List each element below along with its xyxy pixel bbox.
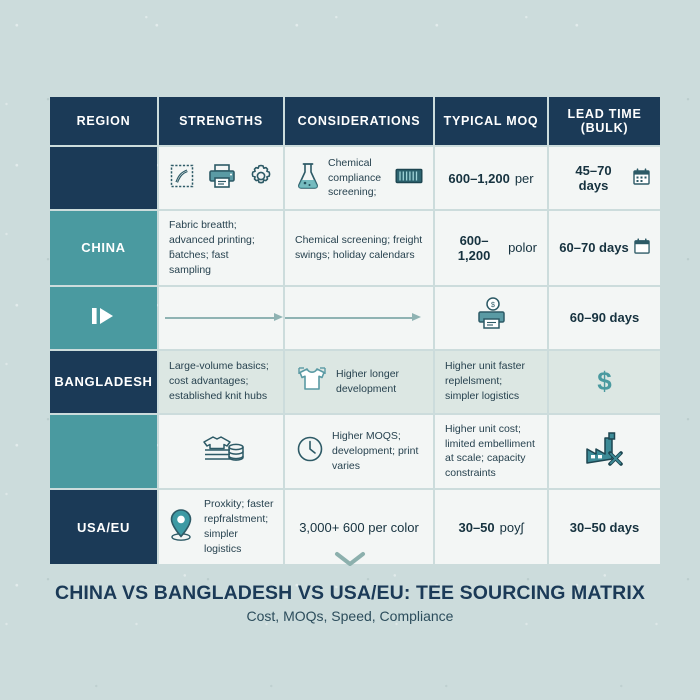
lead-time-cell: 60–70 days [549, 211, 660, 285]
considerations-cell: Higher longer development [285, 351, 433, 413]
column-header-region: REGION [50, 97, 157, 145]
moq-value: 600–1,200 [448, 171, 509, 186]
considerations-text: Higher MOQS; development; print varies [332, 429, 423, 474]
lead-time-cell [549, 415, 660, 489]
lead-time-cell: 45–70 days [549, 147, 660, 209]
moq-unit: poyʃ [500, 520, 524, 535]
region-pill-bangladesh: BANGLADESH [50, 351, 157, 413]
tshirt-icon [295, 363, 329, 400]
clock-icon [295, 434, 325, 469]
column-header-typical-moq: TYPICAL MOQ [435, 97, 547, 145]
printer-cost-icon: $ [471, 295, 511, 340]
lead-time-cell: 60–90 days [549, 287, 660, 349]
region-cell [50, 287, 157, 349]
moq-text: Higher unit faster replelsment; simpler … [435, 351, 547, 413]
infographic-canvas: REGION STRENGTHS CONSIDERATIONS TYPICAL … [0, 0, 700, 700]
considerations-cell: Chemical compliance screening; [285, 147, 433, 209]
region-cell: CHINA [50, 211, 157, 285]
region-cell: BANGLADESH [50, 351, 157, 413]
lead-time-cell: $ [549, 351, 660, 413]
strengths-text: Large-volume basics; cost advantages; es… [159, 351, 283, 413]
column-header-considerations: CONSIDERATIONS [285, 97, 433, 145]
gear-icon [248, 163, 274, 194]
strengths-text: Proxkity; faster repfralstment; simpler … [204, 497, 277, 557]
lead-time-line2: (BULK) [549, 121, 660, 135]
arrow-right-icon [165, 313, 283, 323]
svg-text:$: $ [491, 302, 495, 309]
considerations-text: Chemical compliance screening; [328, 156, 388, 201]
lead-time-value: 45–70 days [559, 163, 628, 193]
lead-time-value: 30–50 days [570, 520, 639, 535]
considerations-text: Higher longer development [336, 367, 423, 397]
strengths-cell [159, 415, 283, 489]
table-row: Higher MOQS; development; print varies H… [50, 415, 660, 489]
table-row: BANGLADESH Large-volume basics; cost adv… [50, 351, 660, 413]
moq-unit: per [515, 171, 534, 186]
moq-text: Higher unit cost; limited embelliment at… [435, 415, 547, 489]
region-cell [50, 147, 157, 209]
factory-icon [583, 429, 627, 474]
region-pill [50, 147, 157, 209]
flask-icon [295, 161, 321, 196]
table-row: Chemical compliance screening; 600–1,200… [50, 147, 660, 209]
region-pill-step [50, 287, 157, 349]
moq-value: 600–1,200 [445, 233, 503, 263]
region-pill [50, 415, 157, 489]
region-pill-china: CHINA [50, 211, 157, 285]
column-header-strengths: STRENGTHS [159, 97, 283, 145]
lead-time-value: 60–70 days [559, 240, 628, 255]
strengths-cell: Fabric breatth; advanced printing; ƃatch… [159, 211, 283, 285]
moq-cell: 600–1,200polor [435, 211, 547, 285]
chevron-down-icon [0, 550, 700, 573]
dollar-icon: $ [597, 366, 611, 397]
moq-unit: polor [508, 240, 537, 255]
page-subtitle: Cost, MOQs, Speed, Compliance [0, 608, 700, 624]
header-row: REGION STRENGTHS CONSIDERATIONS TYPICAL … [50, 97, 660, 145]
strengths-cell [159, 147, 283, 209]
table-row: CHINA Fabric breatth; advanced printing;… [50, 211, 660, 285]
folded-shirts-coins-icon [196, 430, 246, 473]
region-cell [50, 415, 157, 489]
page-title: CHINA VS BANGLADESH VS USA/EU: TEE SOURC… [0, 582, 700, 605]
moq-cell: Higher unit faster replelsment; simpler … [435, 351, 547, 413]
considerations-cell: Higher MOQS; development; print varies [285, 415, 433, 489]
lead-time-line1: LEAD TIME [549, 107, 660, 121]
strengths-cell [159, 287, 283, 349]
table-header: REGION STRENGTHS CONSIDERATIONS TYPICAL … [50, 97, 660, 145]
map-pin-icon [165, 506, 197, 549]
column-header-lead-time: LEAD TIME (BULK) [549, 97, 660, 145]
calendar-icon [633, 168, 650, 188]
considerations-text: Chemical screening; freight swings; holi… [285, 211, 433, 285]
fabric-swatch-icon [168, 162, 196, 195]
sourcing-matrix-table: REGION STRENGTHS CONSIDERATIONS TYPICAL … [48, 95, 662, 566]
step-forward-icon [87, 303, 121, 332]
strengths-text: Fabric breatth; advanced printing; ƃatch… [159, 211, 283, 285]
printer-icon [207, 162, 237, 195]
strengths-cell: Large-volume basics; cost advantages; es… [159, 351, 283, 413]
moq-cell: Higher unit cost; limited embelliment at… [435, 415, 547, 489]
shipping-container-icon [395, 166, 423, 191]
lead-time-value: 60–90 days [570, 310, 639, 325]
table-body: Chemical compliance screening; 600–1,200… [50, 147, 660, 564]
calendar-icon [634, 238, 650, 257]
considerations-cell [285, 287, 433, 349]
table-row: $ 60–90 days [50, 287, 660, 349]
moq-value: 30–50 [458, 520, 494, 535]
moq-cell: 600–1,200per [435, 147, 547, 209]
moq-cell: $ [435, 287, 547, 349]
arrow-right-icon [285, 313, 421, 323]
considerations-cell: Chemical screening; freight swings; holi… [285, 211, 433, 285]
